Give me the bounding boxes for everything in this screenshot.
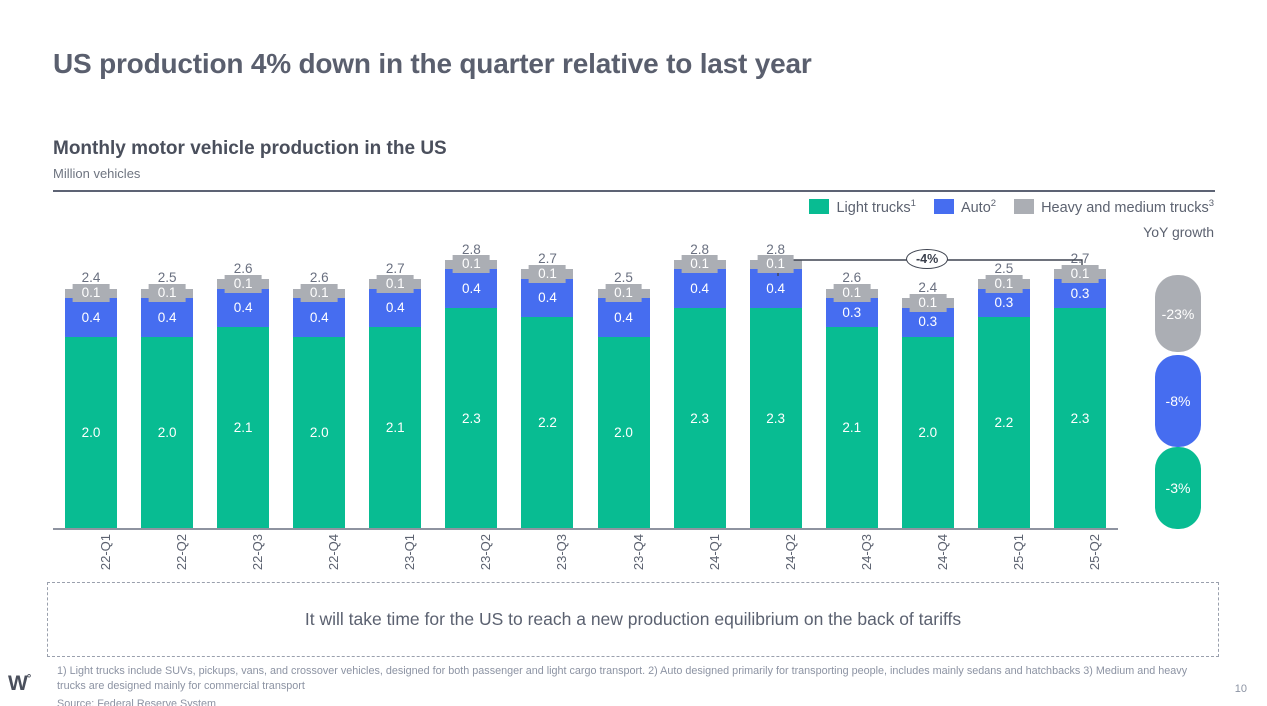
bar-segment-light-trucks: 2.0 (293, 337, 345, 529)
bar-segment-heavy-medium-trucks: 0.1 (978, 279, 1030, 289)
bar-segment-heavy-medium-trucks: 0.1 (750, 260, 802, 270)
bar-column[interactable]: 0.10.42.0 (65, 289, 117, 529)
bar-segment-heavy-medium-trucks: 0.1 (217, 279, 269, 289)
bar-value-label-light-trucks: 2.0 (614, 426, 633, 440)
bar-segment-light-trucks: 2.3 (445, 308, 497, 529)
bar-value-label-auto: 0.4 (614, 311, 633, 325)
yoy-pill-auto: -8% (1155, 355, 1201, 447)
bar-segment-auto: 0.4 (674, 269, 726, 307)
bar-value-label-light-trucks: 2.0 (918, 426, 937, 440)
bar-column[interactable]: 0.10.32.0 (902, 298, 954, 529)
bar-total-label: 2.6 (842, 270, 861, 285)
growth-badge: -4% (906, 249, 948, 269)
chart-subtitle: Million vehicles (53, 166, 140, 181)
bar-segment-heavy-medium-trucks: 0.1 (141, 289, 193, 299)
callout-box: It will take time for the US to reach a … (47, 582, 1219, 657)
bar-value-label-light-trucks: 2.1 (386, 421, 405, 435)
bar-column[interactable]: 0.10.32.3 (1054, 269, 1106, 529)
bar-segment-heavy-medium-trucks: 0.1 (369, 279, 421, 289)
yoy-pill-light-trucks: -3% (1155, 447, 1201, 529)
bar-value-label-auto: 0.4 (690, 282, 709, 296)
bar-value-label-auto: 0.4 (234, 301, 253, 315)
bar-column[interactable]: 0.10.32.2 (978, 279, 1030, 529)
bar-value-label-auto: 0.4 (158, 311, 177, 325)
legend-item-heavy-medium-trucks[interactable]: Heavy and medium trucks3 (1014, 198, 1214, 216)
bar-segment-auto: 0.4 (598, 298, 650, 336)
bar-value-label-heavy-medium-trucks: 0.1 (909, 294, 946, 312)
bar-column[interactable]: 0.10.42.0 (598, 289, 650, 529)
bar-total-label: 2.5 (995, 261, 1014, 276)
yoy-growth-caption: YoY growth (1143, 224, 1214, 240)
bar-value-label-heavy-medium-trucks: 0.1 (73, 284, 110, 302)
bar-value-label-auto: 0.3 (842, 306, 861, 320)
chart-legend: Light trucks1Auto2Heavy and medium truck… (809, 198, 1214, 216)
bar-segment-light-trucks: 2.3 (674, 308, 726, 529)
bar-total-label: 2.7 (1071, 251, 1090, 266)
bar-value-label-light-trucks: 2.0 (82, 426, 101, 440)
bar-column[interactable]: 0.10.42.3 (750, 260, 802, 529)
bar-segment-auto: 0.4 (217, 289, 269, 327)
bar-column[interactable]: 0.10.42.2 (521, 269, 573, 529)
bar-value-label-light-trucks: 2.3 (1071, 412, 1090, 426)
bar-value-label-auto: 0.4 (462, 282, 481, 296)
bar-value-label-heavy-medium-trucks: 0.1 (301, 284, 338, 302)
x-axis-tick-label: 22-Q4 (326, 534, 341, 570)
bar-value-label-auto: 0.3 (995, 296, 1014, 310)
bar-value-label-light-trucks: 2.1 (234, 421, 253, 435)
bar-value-label-light-trucks: 2.3 (690, 412, 709, 426)
x-axis-tick-label: 24-Q1 (707, 534, 722, 570)
bar-value-label-heavy-medium-trucks: 0.1 (529, 265, 566, 283)
bar-value-label-auto: 0.3 (1071, 287, 1090, 301)
bar-segment-heavy-medium-trucks: 0.1 (65, 289, 117, 299)
legend-label-auto: Auto2 (961, 198, 996, 216)
bar-value-label-heavy-medium-trucks: 0.1 (377, 275, 414, 293)
brand-logo: W° (8, 672, 30, 696)
bar-value-label-heavy-medium-trucks: 0.1 (453, 255, 490, 273)
bar-value-label-auto: 0.4 (386, 301, 405, 315)
x-axis-tick-label: 23-Q3 (554, 534, 569, 570)
bar-value-label-light-trucks: 2.0 (310, 426, 329, 440)
bar-value-label-auto: 0.4 (766, 282, 785, 296)
bar-segment-light-trucks: 2.0 (598, 337, 650, 529)
legend-swatch-light-trucks (809, 199, 829, 214)
bar-total-label: 2.8 (766, 242, 785, 257)
x-axis-line (53, 528, 1118, 530)
bar-segment-light-trucks: 2.3 (750, 308, 802, 529)
bar-total-label: 2.5 (614, 270, 633, 285)
bar-segment-auto: 0.4 (65, 298, 117, 336)
bar-segment-auto: 0.4 (293, 298, 345, 336)
x-axis-tick-label: 24-Q3 (859, 534, 874, 570)
bar-segment-heavy-medium-trucks: 0.1 (445, 260, 497, 270)
bar-segment-auto: 0.4 (141, 298, 193, 336)
bar-value-label-heavy-medium-trucks: 0.1 (757, 255, 794, 273)
bar-column[interactable]: 0.10.42.1 (217, 279, 269, 529)
legend-swatch-auto (934, 199, 954, 214)
bar-value-label-light-trucks: 2.0 (158, 426, 177, 440)
bar-column[interactable]: 0.10.42.0 (141, 289, 193, 529)
yoy-pill-heavy-medium-trucks: -23% (1155, 275, 1201, 352)
bar-value-label-light-trucks: 2.2 (538, 416, 557, 430)
bar-segment-light-trucks: 2.1 (826, 327, 878, 529)
bar-total-label: 2.8 (690, 242, 709, 257)
bar-segment-heavy-medium-trucks: 0.1 (521, 269, 573, 279)
bar-total-label: 2.7 (386, 261, 405, 276)
x-axis-tick-label: 22-Q2 (174, 534, 189, 570)
x-axis-tick-label: 25-Q2 (1087, 534, 1102, 570)
bar-value-label-auto: 0.4 (82, 311, 101, 325)
x-axis-tick-label: 22-Q1 (98, 534, 113, 570)
bar-segment-light-trucks: 2.0 (65, 337, 117, 529)
bar-total-label: 2.8 (462, 242, 481, 257)
x-axis-tick-label: 22-Q3 (250, 534, 265, 570)
bar-value-label-heavy-medium-trucks: 0.1 (149, 284, 186, 302)
source-note: Source: Federal Reserve System (57, 698, 216, 706)
bar-segment-auto: 0.3 (902, 308, 954, 337)
bar-segment-auto: 0.4 (521, 279, 573, 317)
bar-segment-heavy-medium-trucks: 0.1 (826, 289, 878, 299)
slide: US production 4% down in the quarter rel… (0, 0, 1267, 706)
bar-segment-heavy-medium-trucks: 0.1 (1054, 269, 1106, 279)
chart-title: Monthly motor vehicle production in the … (53, 138, 447, 160)
bar-segment-light-trucks: 2.2 (521, 317, 573, 529)
bar-column[interactable]: 0.10.42.3 (445, 260, 497, 529)
bar-total-label: 2.6 (234, 261, 253, 276)
x-axis-tick-label: 24-Q4 (935, 534, 950, 570)
bar-segment-heavy-medium-trucks: 0.1 (293, 289, 345, 299)
bar-value-label-light-trucks: 2.3 (462, 412, 481, 426)
bar-value-label-auto: 0.4 (538, 291, 557, 305)
bar-total-label: 2.7 (538, 251, 557, 266)
x-axis-tick-label: 24-Q2 (783, 534, 798, 570)
bar-value-label-heavy-medium-trucks: 0.1 (986, 275, 1023, 293)
bar-value-label-light-trucks: 2.1 (842, 421, 861, 435)
bar-segment-light-trucks: 2.3 (1054, 308, 1106, 529)
bar-segment-light-trucks: 2.1 (217, 327, 269, 529)
bar-value-label-heavy-medium-trucks: 0.1 (833, 284, 870, 302)
bar-segment-auto: 0.4 (445, 269, 497, 307)
bar-segment-heavy-medium-trucks: 0.1 (902, 298, 954, 308)
legend-footnote-marker: 2 (991, 198, 996, 209)
legend-label-light-trucks: Light trucks1 (836, 198, 915, 216)
bar-segment-auto: 0.3 (978, 289, 1030, 318)
bar-segment-auto: 0.4 (750, 269, 802, 307)
legend-label-heavy-medium-trucks: Heavy and medium trucks3 (1041, 198, 1214, 216)
footnotes: 1) Light trucks include SUVs, pickups, v… (57, 664, 1197, 694)
bar-value-label-heavy-medium-trucks: 0.1 (605, 284, 642, 302)
bar-total-label: 2.4 (82, 270, 101, 285)
bar-value-label-light-trucks: 2.3 (766, 412, 785, 426)
bar-segment-heavy-medium-trucks: 0.1 (674, 260, 726, 270)
bar-column[interactable]: 0.10.42.3 (674, 260, 726, 529)
bar-value-label-heavy-medium-trucks: 0.1 (681, 255, 718, 273)
x-axis-tick-label: 23-Q4 (631, 534, 646, 570)
bar-value-label-heavy-medium-trucks: 0.1 (225, 275, 262, 293)
bar-segment-auto: 0.4 (369, 289, 421, 327)
x-axis-tick-label: 23-Q2 (478, 534, 493, 570)
bar-total-label: 2.6 (310, 270, 329, 285)
bar-total-label: 2.4 (918, 280, 937, 295)
header-divider (53, 190, 1215, 192)
x-axis-tick-label: 23-Q1 (402, 534, 417, 570)
legend-item-auto[interactable]: Auto2 (934, 198, 996, 216)
bar-segment-auto: 0.3 (1054, 279, 1106, 308)
callout-text: It will take time for the US to reach a … (305, 609, 961, 630)
bar-value-label-auto: 0.4 (310, 311, 329, 325)
legend-footnote-marker: 1 (911, 198, 916, 209)
bar-column[interactable]: 0.10.42.1 (369, 279, 421, 529)
bar-value-label-heavy-medium-trucks: 0.1 (1062, 265, 1099, 283)
bar-segment-heavy-medium-trucks: 0.1 (598, 289, 650, 299)
page-number: 10 (1235, 683, 1247, 695)
bar-total-label: 2.5 (158, 270, 177, 285)
page-title: US production 4% down in the quarter rel… (53, 48, 812, 80)
bar-column[interactable]: 0.10.42.0 (293, 289, 345, 529)
legend-footnote-marker: 3 (1209, 198, 1214, 209)
legend-swatch-heavy-medium-trucks (1014, 199, 1034, 214)
bar-segment-light-trucks: 2.1 (369, 327, 421, 529)
bar-segment-light-trucks: 2.2 (978, 317, 1030, 529)
bar-segment-light-trucks: 2.0 (141, 337, 193, 529)
chart-plot-area: 2.40.10.42.02.50.10.42.02.60.10.42.12.60… (53, 250, 1118, 529)
legend-item-light-trucks[interactable]: Light trucks1 (809, 198, 915, 216)
bar-column[interactable]: 0.10.32.1 (826, 289, 878, 530)
bar-value-label-auto: 0.3 (918, 315, 937, 329)
x-axis-tick-label: 25-Q1 (1011, 534, 1026, 570)
bar-value-label-light-trucks: 2.2 (995, 416, 1014, 430)
bar-segment-light-trucks: 2.0 (902, 337, 954, 529)
bar-segment-auto: 0.3 (826, 298, 878, 327)
